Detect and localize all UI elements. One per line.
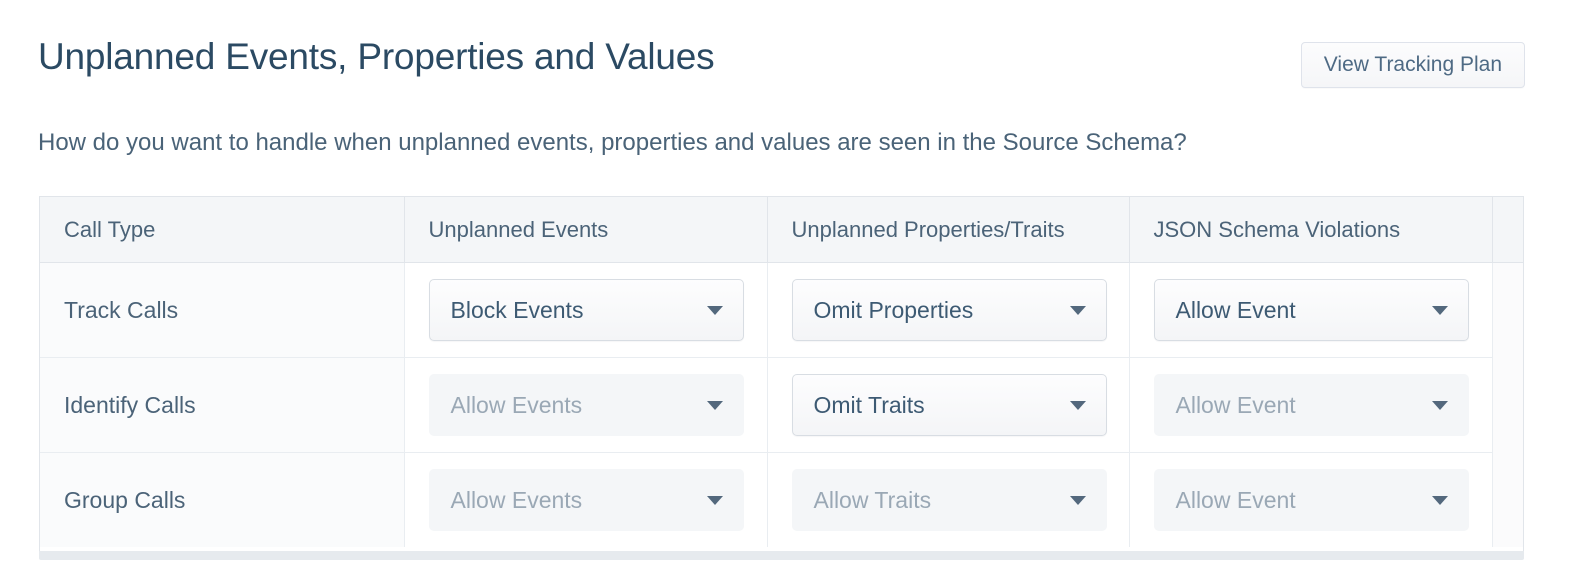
chevron-down-icon: [1070, 401, 1086, 410]
cell-track-json-schema-violations: Allow Event: [1129, 262, 1492, 357]
select-group-json-schema-violations[interactable]: Allow Event: [1154, 469, 1469, 531]
select-value: Allow Traits: [793, 485, 984, 515]
cell-identify-unplanned-traits: Omit Traits: [767, 357, 1129, 452]
chevron-down-icon: [1432, 496, 1448, 505]
select-group-unplanned-traits[interactable]: Allow Traits: [792, 469, 1107, 531]
page-header: Unplanned Events, Properties and Values …: [38, 34, 1525, 96]
table-row: Identify Calls Allow Events Omit Traits: [40, 357, 1523, 452]
page-subtitle: How do you want to handle when unplanned…: [38, 126, 1187, 160]
cell-spacer: [1492, 357, 1523, 452]
chevron-down-icon: [1070, 306, 1086, 315]
cell-identify-json-schema-violations: Allow Event: [1129, 357, 1492, 452]
cell-group-unplanned-events: Allow Events: [404, 452, 767, 547]
page-title: Unplanned Events, Properties and Values: [38, 34, 714, 80]
row-label-identify-calls: Identify Calls: [40, 357, 404, 452]
cell-group-unplanned-traits: Allow Traits: [767, 452, 1129, 547]
cell-group-json-schema-violations: Allow Event: [1129, 452, 1492, 547]
column-header-call-type: Call Type: [40, 197, 404, 262]
select-identify-unplanned-events[interactable]: Allow Events: [429, 374, 744, 436]
chevron-down-icon: [707, 401, 723, 410]
horizontal-scrollbar[interactable]: [39, 551, 1524, 560]
select-value: Allow Events: [430, 485, 635, 515]
chevron-down-icon: [1432, 306, 1448, 315]
cell-track-unplanned-events: Block Events: [404, 262, 767, 357]
select-group-unplanned-events[interactable]: Allow Events: [429, 469, 744, 531]
select-track-unplanned-events[interactable]: Block Events: [429, 279, 744, 341]
row-label-group-calls: Group Calls: [40, 452, 404, 547]
unplanned-handling-table: Call Type Unplanned Events Unplanned Pro…: [39, 196, 1524, 551]
cell-spacer: [1492, 452, 1523, 547]
chevron-down-icon: [707, 306, 723, 315]
table-body: Track Calls Block Events Omit Properties: [40, 262, 1523, 547]
chevron-down-icon: [1070, 496, 1086, 505]
select-value: Omit Traits: [793, 390, 977, 420]
select-track-json-schema-violations[interactable]: Allow Event: [1154, 279, 1469, 341]
table-row: Track Calls Block Events Omit Properties: [40, 262, 1523, 357]
settings-table: Call Type Unplanned Events Unplanned Pro…: [40, 197, 1523, 547]
select-value: Allow Event: [1155, 295, 1348, 325]
column-header-spacer: [1492, 197, 1523, 262]
column-header-unplanned-events: Unplanned Events: [404, 197, 767, 262]
table-header-row: Call Type Unplanned Events Unplanned Pro…: [40, 197, 1523, 262]
select-track-unplanned-properties[interactable]: Omit Properties: [792, 279, 1107, 341]
row-label-track-calls: Track Calls: [40, 262, 404, 357]
select-value: Allow Event: [1155, 485, 1348, 515]
select-value: Block Events: [430, 295, 636, 325]
select-identify-unplanned-traits[interactable]: Omit Traits: [792, 374, 1107, 436]
table-row: Group Calls Allow Events Allow Traits: [40, 452, 1523, 547]
column-header-unplanned-properties-traits: Unplanned Properties/Traits: [767, 197, 1129, 262]
select-value: Allow Events: [430, 390, 635, 420]
table-header: Call Type Unplanned Events Unplanned Pro…: [40, 197, 1523, 262]
chevron-down-icon: [707, 496, 723, 505]
cell-track-unplanned-properties: Omit Properties: [767, 262, 1129, 357]
select-value: Omit Properties: [793, 295, 1026, 325]
view-tracking-plan-button[interactable]: View Tracking Plan: [1301, 42, 1525, 88]
cell-identify-unplanned-events: Allow Events: [404, 357, 767, 452]
select-identify-json-schema-violations[interactable]: Allow Event: [1154, 374, 1469, 436]
column-header-json-schema-violations: JSON Schema Violations: [1129, 197, 1492, 262]
chevron-down-icon: [1432, 401, 1448, 410]
select-value: Allow Event: [1155, 390, 1348, 420]
cell-spacer: [1492, 262, 1523, 357]
unplanned-events-settings-page: Unplanned Events, Properties and Values …: [0, 0, 1586, 584]
